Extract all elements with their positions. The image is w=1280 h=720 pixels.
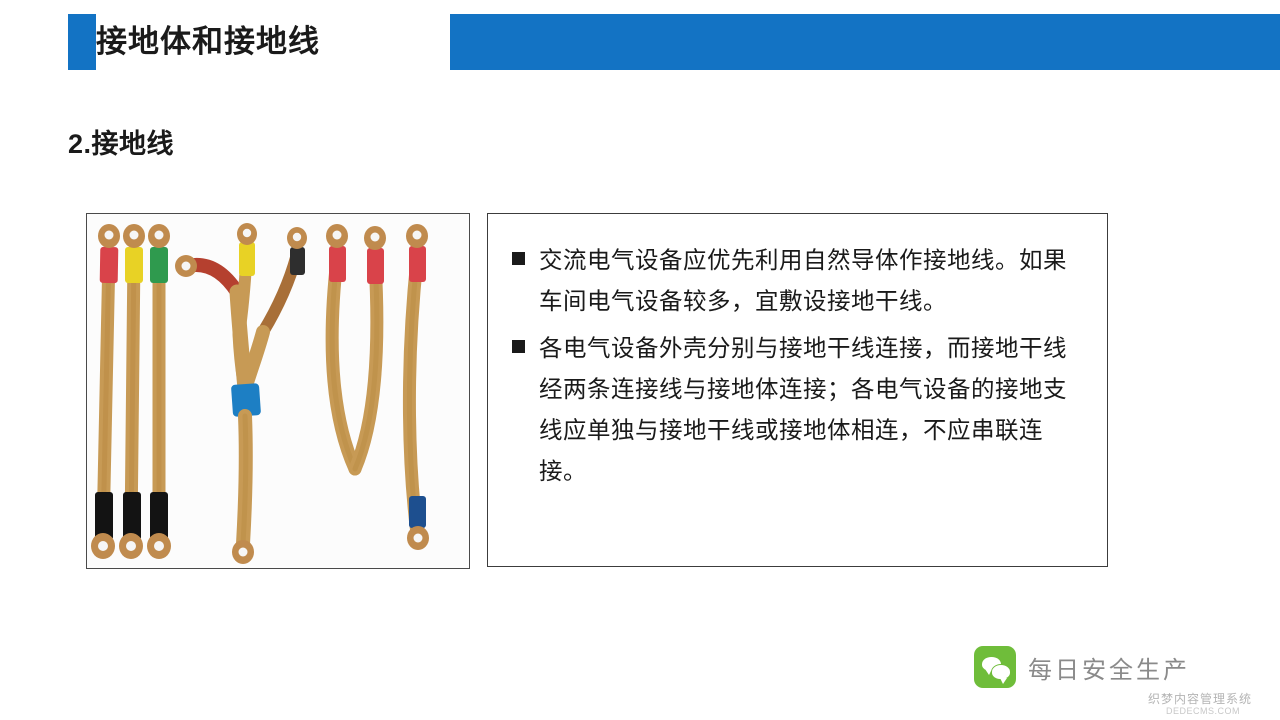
list-item: 交流电气设备应优先利用自然导体作接地线。如果车间电气设备较多，宜敷设接地干线。	[512, 240, 1083, 322]
page-title: 接地体和接地线	[96, 14, 320, 70]
wechat-icon	[974, 646, 1016, 688]
page-header: 接地体和接地线	[0, 14, 1280, 70]
bullet-text: 各电气设备外壳分别与接地干线连接，而接地干线经两条连接线与接地体连接；各电气设备…	[539, 328, 1083, 492]
header-title-plate: 接地体和接地线	[96, 14, 450, 70]
square-bullet-icon	[512, 252, 525, 265]
square-bullet-icon	[512, 340, 525, 353]
site-watermark: 织梦内容管理系统	[1148, 690, 1252, 707]
wechat-account-badge: 每日安全生产	[974, 646, 1190, 688]
grounding-braid-cables-photo	[87, 214, 467, 566]
list-item: 各电气设备外壳分别与接地干线连接，而接地干线经两条连接线与接地体连接；各电气设备…	[512, 328, 1083, 492]
bullet-text-panel: 交流电气设备应优先利用自然导体作接地线。如果车间电气设备较多，宜敷设接地干线。 …	[487, 213, 1108, 567]
wechat-account-name: 每日安全生产	[1028, 650, 1190, 685]
header-accent-block	[68, 24, 86, 62]
bullet-text: 交流电气设备应优先利用自然导体作接地线。如果车间电气设备较多，宜敷设接地干线。	[539, 240, 1083, 322]
header-left-white-block	[0, 14, 68, 70]
site-domain-watermark: DEDECMS.COM	[1166, 706, 1240, 716]
section-heading: 2.接地线	[68, 122, 174, 161]
grounding-cable-image-panel	[86, 213, 470, 569]
